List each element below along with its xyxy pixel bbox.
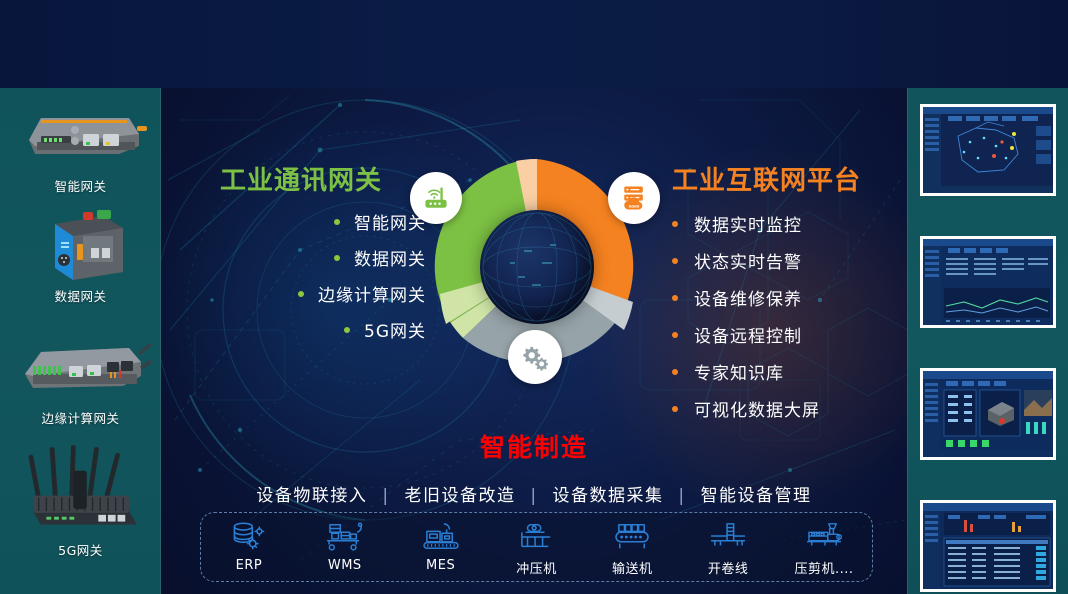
list-item: 设备远程控制 [672, 322, 912, 347]
strip-item-stamping-press[interactable]: 冲压机 [493, 520, 579, 577]
product-label: 智能网关 [0, 176, 161, 195]
left-product-rail: 智能网关 数据网关 [0, 88, 161, 594]
left-feature-column: 工业通讯网关 智能网关 数据网关 边缘计算网关 5G网关 [176, 160, 426, 353]
5g-gateway-router-device [11, 436, 151, 536]
list-item-label: 设备远程控制 [694, 322, 802, 347]
list-item: 智能网关 [176, 209, 426, 234]
bullet-dot-icon [672, 369, 678, 375]
bullet-dot-icon [334, 219, 340, 225]
list-item-label: 5G网关 [364, 317, 426, 342]
right-screenshot-rail [907, 88, 1068, 594]
separator: | [530, 486, 537, 506]
product-item-5g-gateway[interactable]: 5G网关 [0, 436, 161, 559]
product-item-data-gateway[interactable]: 数据网关 [0, 206, 161, 305]
screenshot-data-chart-view[interactable] [918, 234, 1058, 330]
slide-root: 主营业务 Hignton 华辰智通 智能网关 [0, 0, 1068, 594]
strip-icon-wrap [206, 520, 292, 554]
strip-icon-wrap [302, 520, 388, 554]
saas-server-bubble[interactable]: saas [608, 172, 660, 224]
list-item: 设备维修保养 [672, 285, 912, 310]
shearing-machine-icon [804, 521, 844, 553]
list-item: 可视化数据大屏 [672, 396, 912, 421]
strip-icon-wrap [589, 520, 675, 554]
svg-text:saas: saas [629, 205, 640, 210]
uncoiling-line-icon [708, 521, 748, 553]
list-item: 状态实时告警 [672, 248, 912, 273]
separator: | [678, 486, 685, 506]
conveyor-belt-icon [612, 521, 652, 553]
edge-computing-gateway-device [11, 328, 151, 404]
header-bar [0, 0, 1068, 88]
strip-item-erp[interactable]: ERP [206, 520, 292, 573]
globe-grid-icon [480, 210, 594, 324]
product-label: 数据网关 [0, 286, 161, 305]
strip-label: MES [398, 558, 484, 573]
strip-item-wms[interactable]: WMS [302, 520, 388, 573]
list-item-label: 可视化数据大屏 [694, 396, 820, 421]
bullet-dot-icon [672, 295, 678, 301]
list-item-label: 边缘计算网关 [318, 281, 426, 306]
list-item: 边缘计算网关 [176, 281, 426, 306]
bullet-dot-icon [672, 221, 678, 227]
gears-icon [520, 342, 550, 372]
list-item: 5G网关 [176, 317, 426, 342]
list-item-label: 数据实时监控 [694, 211, 802, 236]
strip-label: ERP [206, 558, 292, 573]
strip-icon-wrap [398, 520, 484, 554]
product-label: 5G网关 [0, 540, 161, 559]
bullet-dot-icon [298, 291, 304, 297]
list-item-label: 设备维修保养 [694, 285, 802, 310]
dashboard-table-report-view [918, 498, 1058, 594]
equipment-icon-strip: ERP [200, 512, 873, 582]
list-item: 专家知识库 [672, 359, 912, 384]
strip-icon-wrap [493, 520, 579, 554]
bullet-dot-icon [672, 406, 678, 412]
screenshot-map-view[interactable] [918, 102, 1058, 198]
right-feature-column: 工业互联网平台 数据实时监控 状态实时告警 设备维修保养 设备远程控制 专家知识… [672, 160, 912, 433]
bullet-dot-icon [672, 258, 678, 264]
dashboard-map-view [918, 102, 1058, 198]
list-item-label: 智能网关 [354, 209, 426, 234]
strip-icon-wrap [685, 520, 771, 554]
center-subitem: 设备物联接入 [256, 486, 367, 506]
strip-item-uncoiling-line[interactable]: 开卷线 [685, 520, 771, 577]
database-gear-icon [230, 521, 268, 553]
list-item: 数据网关 [176, 245, 426, 270]
conveyor-crane-icon [421, 521, 461, 553]
strip-item-conveyor[interactable]: 输送机 [589, 520, 675, 577]
left-column-heading: 工业通讯网关 [176, 160, 426, 197]
strip-item-mes[interactable]: MES [398, 520, 484, 573]
center-subitem: 老旧设备改造 [404, 486, 515, 506]
data-gateway-device [11, 206, 151, 282]
strip-item-shearing-machine[interactable]: 压剪机.... [781, 520, 867, 577]
bullet-dot-icon [334, 255, 340, 261]
saas-server-icon: saas [619, 183, 649, 213]
screenshot-table-report-view[interactable] [918, 498, 1058, 594]
strip-label: 压剪机.... [781, 558, 867, 577]
list-item: 数据实时监控 [672, 211, 912, 236]
center-subitem: 设备数据采集 [553, 486, 664, 506]
list-item-label: 数据网关 [354, 245, 426, 270]
product-item-smart-gateway[interactable]: 智能网关 [0, 96, 161, 195]
gears-bubble[interactable] [508, 330, 562, 384]
list-item-label: 专家知识库 [694, 359, 784, 384]
separator: | [382, 486, 389, 506]
strip-icon-wrap [781, 520, 867, 554]
stamping-press-icon [516, 521, 556, 553]
strip-label: WMS [302, 558, 388, 573]
warehouse-cart-icon [325, 521, 365, 553]
list-item-label: 状态实时告警 [694, 248, 802, 273]
bullet-dot-icon [344, 327, 350, 333]
product-item-edge-gateway[interactable]: 边缘计算网关 [0, 328, 161, 427]
dashboard-data-chart-view [918, 234, 1058, 330]
right-column-heading: 工业互联网平台 [672, 160, 912, 197]
bullet-dot-icon [672, 332, 678, 338]
donut-center-globe [480, 210, 594, 324]
screenshot-device-monitor-view[interactable] [918, 366, 1058, 462]
strip-label: 输送机 [589, 558, 675, 577]
product-label: 边缘计算网关 [0, 408, 161, 427]
smart-gateway-device [11, 96, 151, 172]
strip-label: 开卷线 [685, 558, 771, 577]
three-part-donut-diagram: saas [428, 158, 646, 398]
strip-label: 冲压机 [493, 558, 579, 577]
dashboard-device-monitor-view [918, 366, 1058, 462]
center-subitem: 智能设备管理 [701, 486, 812, 506]
